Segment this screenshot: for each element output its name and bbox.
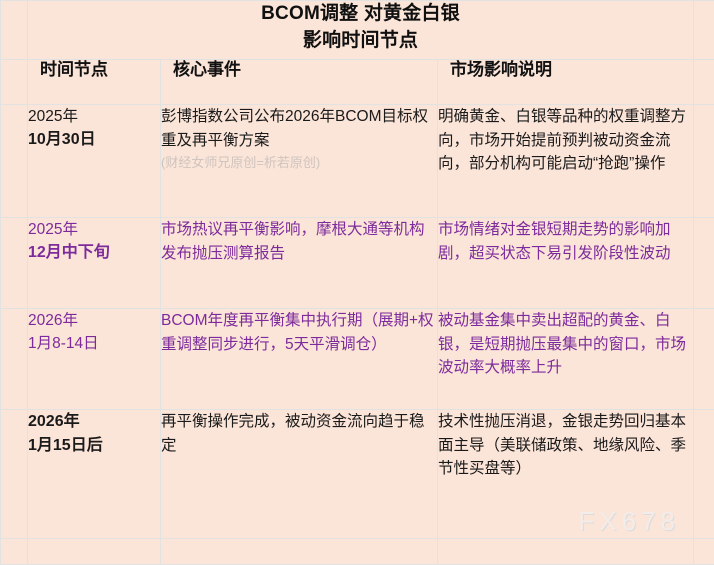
impact-text: 明确黄金、白银等品种的权重调整方向，市场开始提前预判被动资金流向，部分机构可能启… (438, 105, 693, 176)
date-line-1: 2025年 (28, 218, 160, 241)
cell-time-empty (28, 539, 161, 565)
cell-event-empty (161, 539, 438, 565)
event-text: 市场热议再平衡影响，摩根大通等机构发布抛压测算报告 (161, 218, 437, 265)
timeline-table: BCOM调整 对黄金白银 影响时间节点 时间节点 核心事件 市场影响说明 (0, 0, 714, 565)
column-header-impact: 市场影响说明 (438, 60, 694, 105)
title-left-gutter (1, 1, 28, 60)
table-row: 2026年 1月8-14日 BCOM年度再平衡集中执行期（展期+权重调整同步进行… (1, 309, 714, 410)
column-header-event-label: 核心事件 (161, 60, 437, 80)
row-right-gutter (694, 539, 714, 565)
event-text: BCOM年度再平衡集中执行期（展期+权重调整同步进行，5天平滑调仓） (161, 309, 437, 356)
cell-event: 再平衡操作完成，被动资金流向趋于稳定 (161, 410, 438, 539)
table-title: BCOM调整 对黄金白银 影响时间节点 (28, 1, 694, 60)
date-line-2: 10月30日 (28, 128, 160, 152)
table-row: 2025年 10月30日 彭博指数公司公布2026年BCOM目标权重及再平衡方案… (1, 105, 714, 218)
cell-event: 彭博指数公司公布2026年BCOM目标权重及再平衡方案 (财经女师兄原创=析若原… (161, 105, 438, 218)
cell-impact: 明确黄金、白银等品种的权重调整方向，市场开始提前预判被动资金流向，部分机构可能启… (438, 105, 694, 218)
row-left-gutter (1, 539, 28, 565)
title-row: BCOM调整 对黄金白银 影响时间节点 (1, 1, 714, 60)
date-line-2: 1月15日后 (28, 434, 160, 458)
cell-impact: 技术性抛压消退，金银走势回归基本面主导（美联储政策、地缘风险、季节性买盘等） (438, 410, 694, 539)
row-left-gutter (1, 218, 28, 309)
header-right-gutter (694, 60, 714, 105)
impact-text: 被动基金集中卖出超配的黄金、白银，是短期抛压最集中的窗口，市场波动率大概率上升 (438, 309, 693, 380)
row-right-gutter (694, 410, 714, 539)
row-left-gutter (1, 105, 28, 218)
table-row: 2026年 1月15日后 再平衡操作完成，被动资金流向趋于稳定 技术性抛压消退，… (1, 410, 714, 539)
cell-time: 2026年 1月8-14日 (28, 309, 161, 410)
row-right-gutter (694, 218, 714, 309)
impact-text: 技术性抛压消退，金银走势回归基本面主导（美联储政策、地缘风险、季节性买盘等） (438, 410, 693, 481)
cell-event: BCOM年度再平衡集中执行期（展期+权重调整同步进行，5天平滑调仓） (161, 309, 438, 410)
row-right-gutter (694, 105, 714, 218)
column-header-time-label: 时间节点 (28, 60, 160, 80)
row-left-gutter (1, 309, 28, 410)
cell-impact: 市场情绪对金银短期走势的影响加剧，超买状态下易引发阶段性波动 (438, 218, 694, 309)
date-line-1: 2025年 (28, 105, 160, 128)
row-left-gutter (1, 410, 28, 539)
cell-time: 2025年 10月30日 (28, 105, 161, 218)
cell-time: 2025年 12月中下旬 (28, 218, 161, 309)
title-right-gutter (694, 1, 714, 60)
row-right-gutter (694, 309, 714, 410)
title-line-2: 影响时间节点 (28, 28, 693, 55)
table-row: 2025年 12月中下旬 市场热议再平衡影响，摩根大通等机构发布抛压测算报告 市… (1, 218, 714, 309)
header-left-gutter (1, 60, 28, 105)
cell-time: 2026年 1月15日后 (28, 410, 161, 539)
date-line-1: 2026年 (28, 410, 160, 434)
column-header-time: 时间节点 (28, 60, 161, 105)
event-text: 再平衡操作完成，被动资金流向趋于稳定 (161, 410, 437, 457)
title-line-1: BCOM调整 对黄金白银 (28, 1, 693, 28)
date-line-2: 1月8-14日 (28, 332, 160, 355)
event-text: 彭博指数公司公布2026年BCOM目标权重及再平衡方案 (161, 105, 437, 152)
cell-event: 市场热议再平衡影响，摩根大通等机构发布抛压测算报告 (161, 218, 438, 309)
spreadsheet-canvas: BCOM调整 对黄金白银 影响时间节点 时间节点 核心事件 市场影响说明 (0, 0, 714, 565)
column-header-event: 核心事件 (161, 60, 438, 105)
impact-text: 市场情绪对金银短期走势的影响加剧，超买状态下易引发阶段性波动 (438, 218, 693, 265)
cell-impact: 被动基金集中卖出超配的黄金、白银，是短期抛压最集中的窗口，市场波动率大概率上升 (438, 309, 694, 410)
date-line-2: 12月中下旬 (28, 241, 160, 265)
date-line-1: 2026年 (28, 309, 160, 332)
cell-impact-empty (438, 539, 694, 565)
column-header-impact-label: 市场影响说明 (438, 60, 693, 80)
event-note: (财经女师兄原创=析若原创) (161, 153, 437, 173)
column-header-row: 时间节点 核心事件 市场影响说明 (1, 60, 714, 105)
table-row-empty (1, 539, 714, 565)
